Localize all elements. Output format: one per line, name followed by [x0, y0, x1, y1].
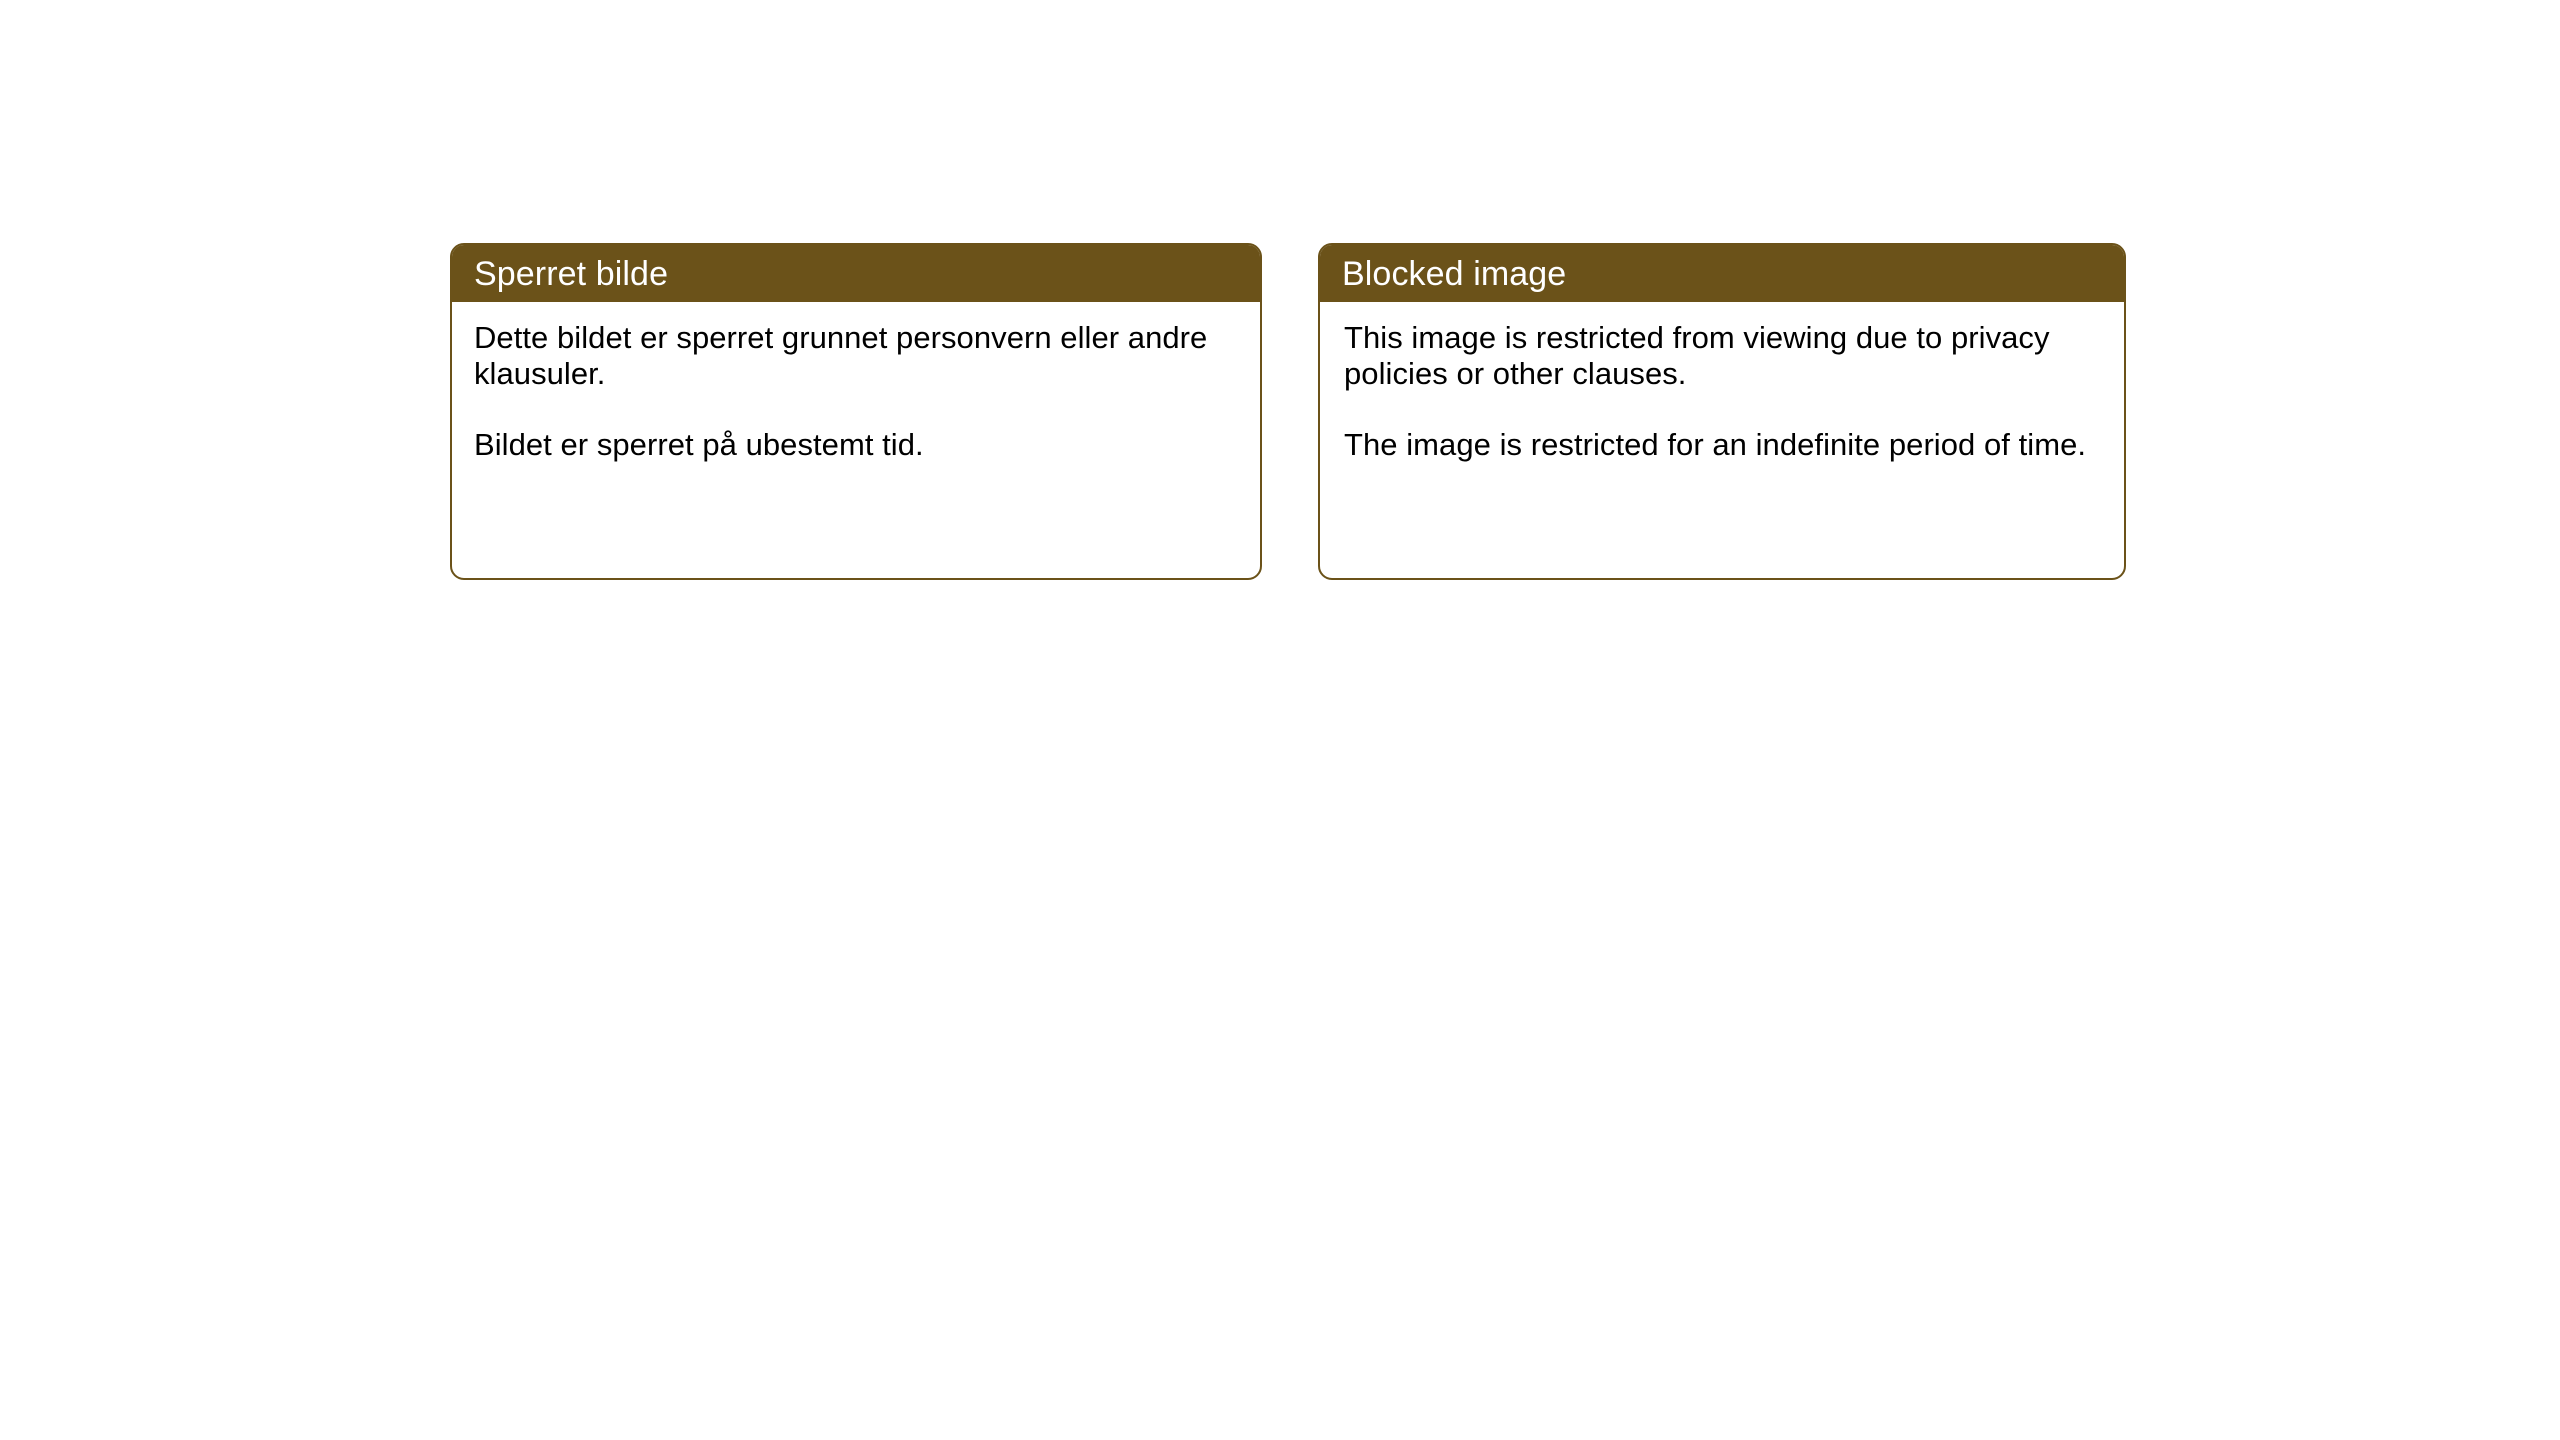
panel-body-no: Dette bildet er sperret grunnet personve… [452, 302, 1260, 483]
panel-header-en: Blocked image [1320, 245, 2124, 302]
blocked-image-panel-no: Sperret bilde Dette bildet er sperret gr… [450, 243, 1262, 580]
paragraph-spacer-en [1344, 393, 2108, 427]
panel-paragraph-en-1: This image is restricted from viewing du… [1344, 320, 2108, 393]
panel-header-no: Sperret bilde [452, 245, 1260, 302]
paragraph-spacer-no [474, 393, 1240, 427]
panel-title-en: Blocked image [1342, 257, 1566, 291]
blocked-image-panel-en: Blocked image This image is restricted f… [1318, 243, 2126, 580]
panel-paragraph-no-1: Dette bildet er sperret grunnet personve… [474, 320, 1240, 393]
panel-paragraph-no-2: Bildet er sperret på ubestemt tid. [474, 427, 1240, 463]
panel-paragraph-en-2: The image is restricted for an indefinit… [1344, 427, 2108, 463]
panel-title-no: Sperret bilde [474, 257, 668, 291]
page-canvas: Sperret bilde Dette bildet er sperret gr… [0, 0, 2560, 1440]
panel-body-en: This image is restricted from viewing du… [1320, 302, 2124, 483]
